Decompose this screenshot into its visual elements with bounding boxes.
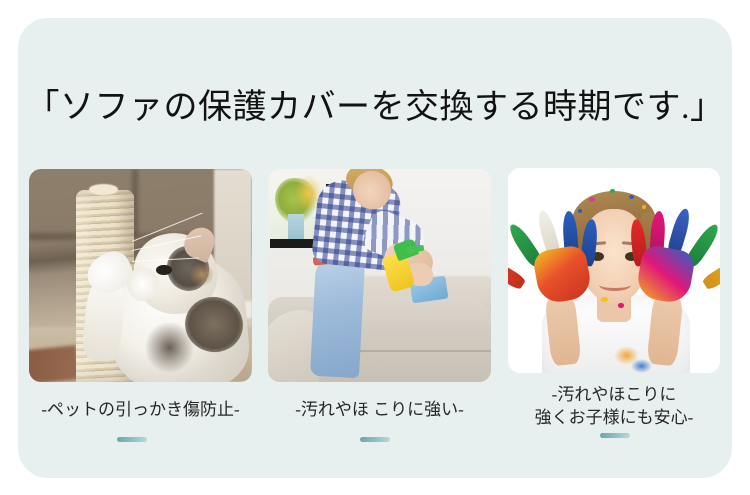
- post-cap: [89, 184, 118, 195]
- caption-text-line-1: -汚れやほこりに: [498, 383, 730, 406]
- cat-fur-patch: [190, 263, 215, 286]
- paint-speck: [642, 205, 646, 209]
- feature-card-kids-safe[interactable]: [508, 168, 720, 373]
- paint-speck: [618, 303, 624, 308]
- woman-jeans: [310, 257, 365, 379]
- caption-text-line-2: 強くお子様にも安心-: [498, 406, 730, 429]
- caption-text: -汚れやほ こりに強い-: [295, 400, 464, 419]
- child-smile: [599, 279, 631, 291]
- accent-underline-1: [117, 437, 147, 442]
- paint-speck: [589, 197, 595, 202]
- paint-speck: [578, 209, 582, 213]
- paint-speck: [601, 297, 607, 302]
- child-painted-hands-photo: [508, 168, 720, 373]
- feature-caption-pet-scratch: -ペットの引っかき傷防止-: [20, 398, 261, 421]
- feature-card-stain-dust[interactable]: [268, 169, 491, 382]
- paint-speck: [629, 195, 634, 199]
- page-title: 「ソファの保護カバーを交換する時期です.」: [0, 86, 750, 130]
- accent-underline-2: [360, 437, 390, 442]
- feature-caption-stain-dust: -汚れやほ こりに強い-: [264, 398, 495, 421]
- paint-speck: [610, 189, 615, 193]
- caption-text: -ペットの引っかき傷防止-: [41, 400, 239, 419]
- cat-scratching-post-photo: [29, 169, 252, 382]
- rug: [29, 345, 80, 382]
- feature-caption-kids-safe: -汚れやほこりに 強くお子様にも安心-: [498, 383, 730, 429]
- promo-banner: 「ソファの保護カバーを交換する時期です.」: [0, 0, 750, 495]
- accent-underline-3: [600, 433, 630, 438]
- paint-stain: [631, 359, 652, 373]
- feature-card-pet-scratch[interactable]: [29, 169, 252, 382]
- woman-cleaning-sofa-photo: [268, 169, 491, 382]
